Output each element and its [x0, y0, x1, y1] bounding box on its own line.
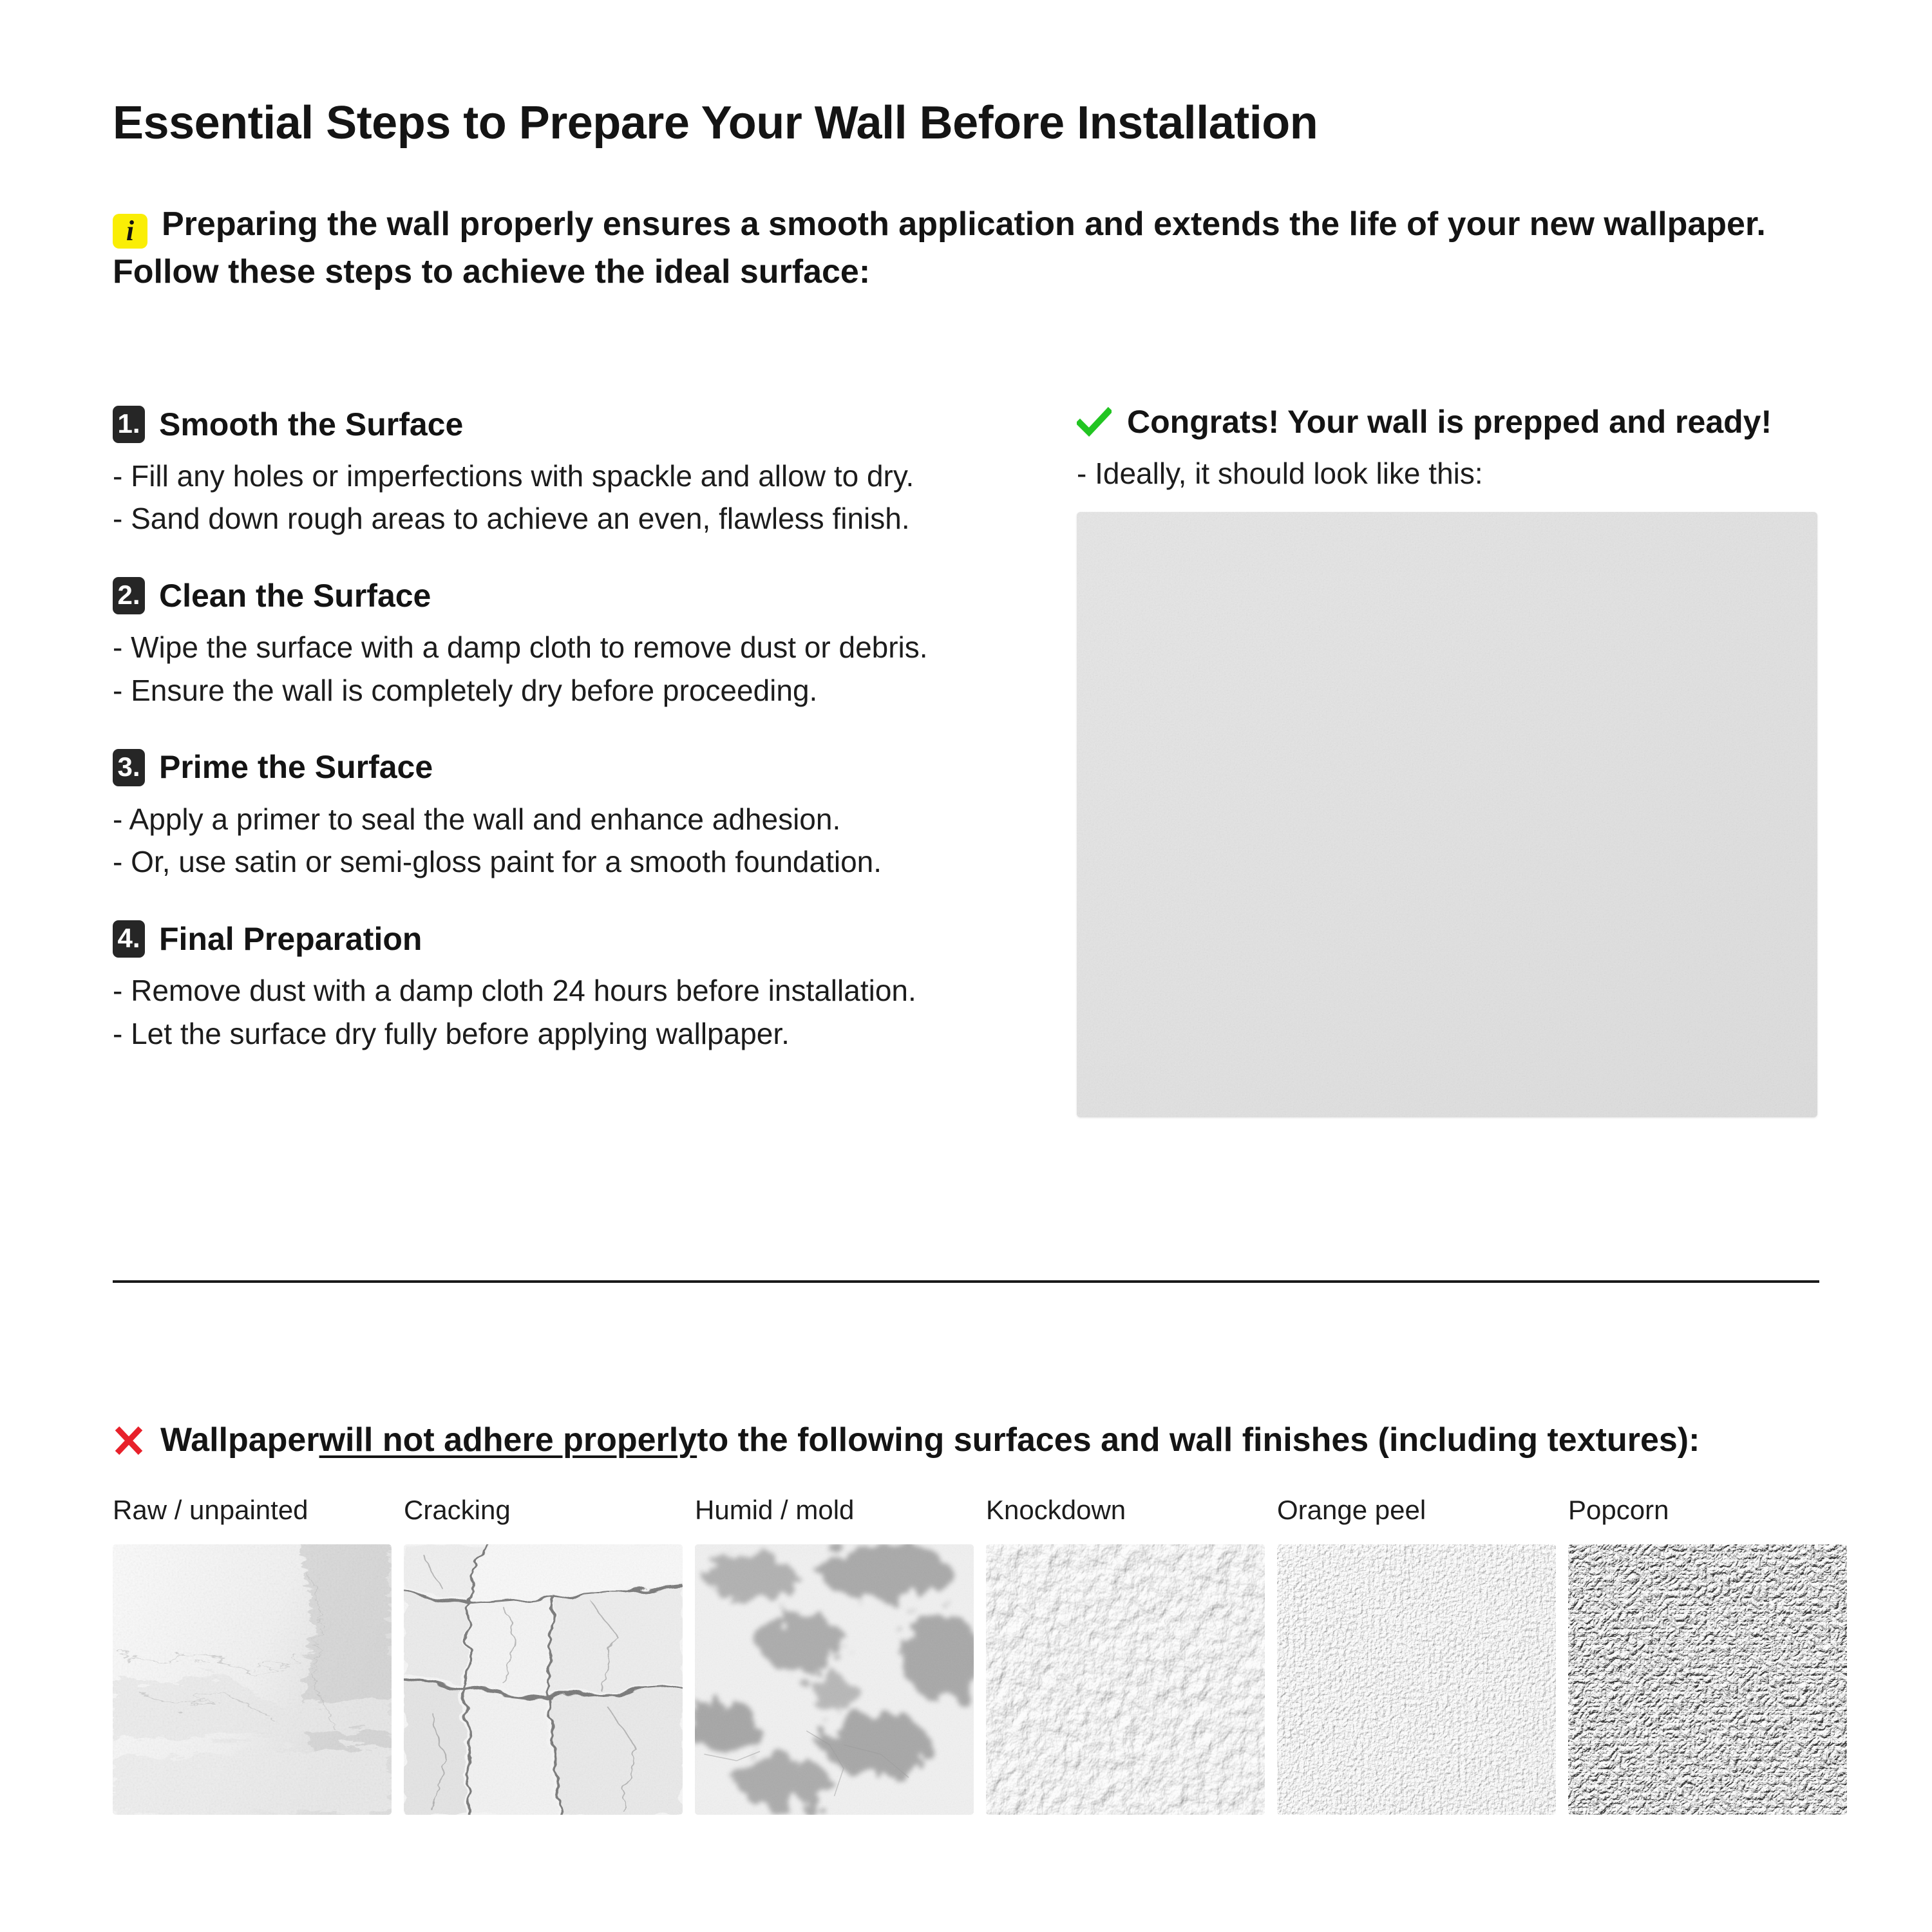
congrats-subtext: - Ideally, it should look like this:	[1077, 453, 1824, 494]
step-number-badge: 2.	[113, 577, 145, 614]
step-heading-text: Clean the Surface	[159, 578, 431, 614]
warning-text-emphasis: will not adhere properly	[319, 1422, 697, 1459]
orange-peel-texture	[1277, 1544, 1556, 1815]
step-2-line-1: - Wipe the surface with a damp cloth to …	[113, 626, 1046, 668]
step-1-line-2: - Sand down rough areas to achieve an ev…	[113, 497, 1046, 540]
step-1: 1. Smooth the Surface - Fill any holes o…	[113, 406, 1046, 540]
knockdown-texture	[986, 1544, 1265, 1815]
step-number-badge: 1.	[113, 406, 145, 443]
step-1-heading: 1. Smooth the Surface	[113, 406, 1046, 443]
surface-label: Cracking	[404, 1494, 683, 1526]
congrats-heading-text: Congrats! Your wall is prepped and ready…	[1127, 404, 1772, 440]
smooth-wall-preview	[1077, 512, 1817, 1117]
bad-surface-item: Cracking	[404, 1494, 683, 1815]
step-number-badge: 4.	[113, 920, 145, 958]
step-3-heading: 3. Prime the Surface	[113, 749, 1046, 786]
bad-surface-item: Raw / unpainted	[113, 1494, 392, 1815]
x-icon	[113, 1425, 145, 1457]
intro-paragraph: iPreparing the wall properly ensures a s…	[113, 201, 1839, 296]
step-heading-text: Final Preparation	[159, 922, 422, 957]
step-1-line-1: - Fill any holes or imperfections with s…	[113, 455, 1046, 497]
info-icon: i	[113, 214, 147, 249]
step-3-line-1: - Apply a primer to seal the wall and en…	[113, 798, 1046, 840]
section-divider	[113, 1280, 1819, 1283]
bad-surface-item: Orange peel	[1277, 1494, 1556, 1815]
check-icon	[1077, 405, 1112, 440]
warning-text-before: Wallpaper	[160, 1422, 319, 1459]
cracking-texture	[404, 1544, 683, 1815]
step-number-badge: 3.	[113, 749, 145, 786]
step-heading-text: Smooth the Surface	[159, 407, 463, 442]
step-2-line-2: - Ensure the wall is completely dry befo…	[113, 669, 1046, 712]
intro-line-1: Preparing the wall properly ensures a sm…	[162, 205, 1766, 243]
bad-surface-item: Popcorn	[1568, 1494, 1847, 1815]
surface-label: Knockdown	[986, 1494, 1265, 1526]
raw-unpainted-texture	[113, 1544, 392, 1815]
step-4-heading: 4. Final Preparation	[113, 920, 1046, 958]
surface-label: Orange peel	[1277, 1494, 1556, 1526]
surface-label: Popcorn	[1568, 1494, 1847, 1526]
warning-text-after: to the following surfaces and wall finis…	[697, 1422, 1700, 1459]
step-4-line-2: - Let the surface dry fully before apply…	[113, 1012, 1046, 1055]
congrats-heading: Congrats! Your wall is prepped and ready…	[1077, 404, 1824, 440]
step-2: 2. Clean the Surface - Wipe the surface …	[113, 577, 1046, 711]
step-4: 4. Final Preparation - Remove dust with …	[113, 920, 1046, 1054]
bad-surfaces-grid: Raw / unpainted	[113, 1494, 1826, 1815]
page-title: Essential Steps to Prepare Your Wall Bef…	[113, 98, 1318, 149]
surface-label: Raw / unpainted	[113, 1494, 392, 1526]
prepped-wall-column: Congrats! Your wall is prepped and ready…	[1077, 404, 1824, 1117]
humid-mold-texture	[695, 1544, 974, 1815]
step-3: 3. Prime the Surface - Apply a primer to…	[113, 749, 1046, 883]
step-4-line-1: - Remove dust with a damp cloth 24 hours…	[113, 969, 1046, 1012]
wall-prep-infographic: Essential Steps to Prepare Your Wall Bef…	[0, 0, 1932, 1932]
surface-label: Humid / mold	[695, 1494, 974, 1526]
step-heading-text: Prime the Surface	[159, 750, 433, 785]
step-3-line-2: - Or, use satin or semi-gloss paint for …	[113, 840, 1046, 883]
bad-surface-item: Humid / mold	[695, 1494, 974, 1815]
steps-column: 1. Smooth the Surface - Fill any holes o…	[113, 406, 1046, 1055]
warning-heading: Wallpaper will not adhere properly to th…	[113, 1422, 1700, 1459]
popcorn-texture	[1568, 1544, 1847, 1815]
intro-line-2: Follow these steps to achieve the ideal …	[113, 253, 870, 290]
bad-surface-item: Knockdown	[986, 1494, 1265, 1815]
step-2-heading: 2. Clean the Surface	[113, 577, 1046, 614]
